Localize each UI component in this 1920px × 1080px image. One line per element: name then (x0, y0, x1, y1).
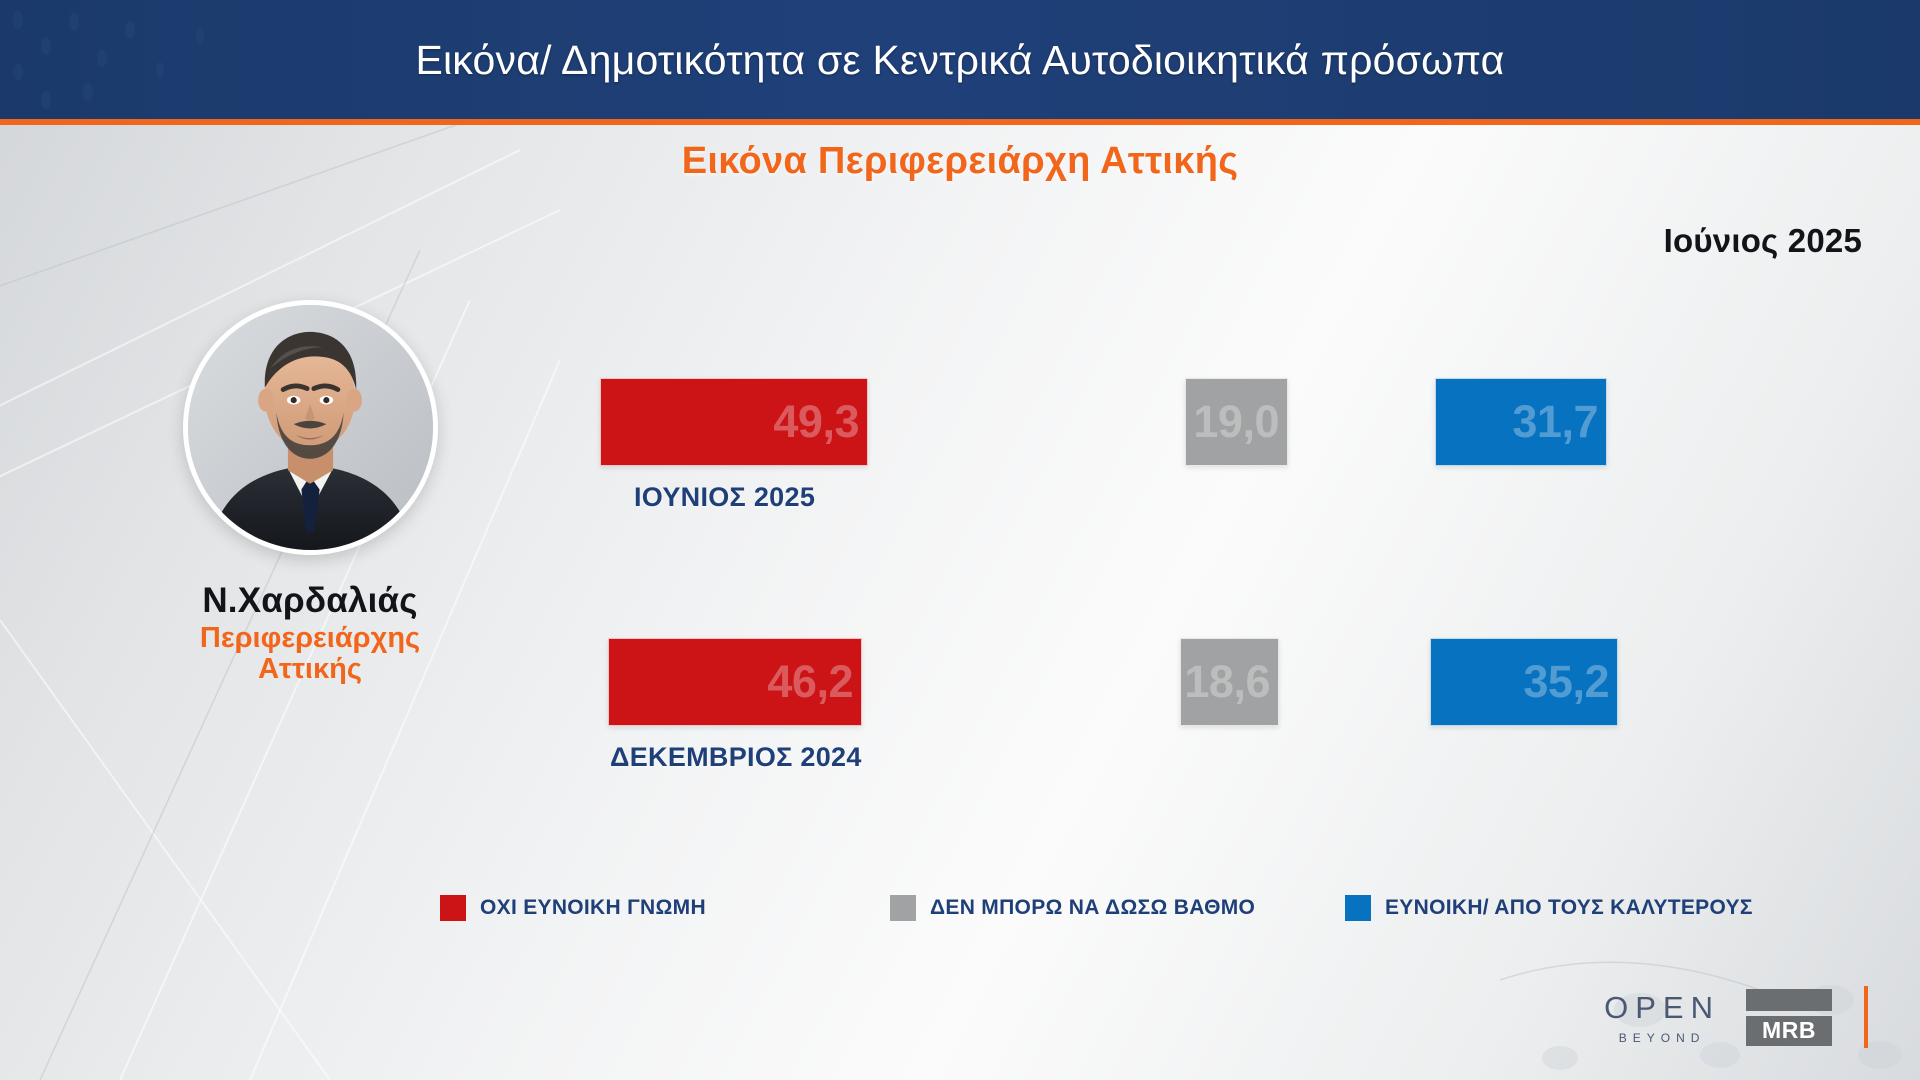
open-beyond-logo: OPEN BEYOND (1604, 990, 1720, 1045)
legend-label-unfavourable: ΟΧΙ ΕΥΝΟΙΚΗ ΓΝΩΜΗ (480, 896, 706, 920)
bar-nograde-2024: 18,6 (1180, 638, 1279, 726)
legend-swatch-red-icon (440, 895, 466, 921)
bar-value-nograde-2024: 18,6 (1184, 656, 1270, 708)
portrait-photo-icon (188, 305, 433, 550)
header-band: Εικόνα/ Δημοτικότητα σε Κεντρικά Αυτοδιο… (0, 0, 1920, 120)
person-role-line1: Περιφερειάρχης (120, 623, 500, 654)
bar-unfavourable-2025: 49,3 (600, 378, 868, 466)
chart-legend: ΟΧΙ ΕΥΝΟΙΚΗ ΓΝΩΜΗ ΔΕΝ ΜΠΟΡΩ ΝΑ ΔΩΣΩ ΒΑΘΜ… (440, 895, 1840, 935)
footer-accent-rule (1864, 986, 1868, 1048)
footer-logos: OPEN BEYOND MRB (1604, 986, 1868, 1048)
mrb-wordmark: MRB (1746, 1016, 1832, 1046)
beyond-wordmark: BEYOND (1619, 1031, 1706, 1045)
bar-favourable-2025: 31,7 (1435, 378, 1607, 466)
legend-label-nograde: ΔΕΝ ΜΠΟΡΩ ΝΑ ΔΩΣΩ ΒΑΘΜΟ (930, 896, 1255, 920)
bar-favourable-2024: 35,2 (1430, 638, 1618, 726)
legend-swatch-blue-icon (1345, 895, 1371, 921)
person-block: Ν.Χαρδαλιάς Περιφερειάρχης Αττικής (120, 300, 500, 684)
chart-subtitle: Εικόνα Περιφερειάρχη Αττικής (0, 140, 1920, 183)
bar-chart: 49,3 19,0 31,7 ΙΟΥΝΙΟΣ 2025 46,2 18,6 35… (560, 300, 1860, 830)
legend-item-nograde: ΔΕΝ ΜΠΟΡΩ ΝΑ ΔΩΣΩ ΒΑΘΜΟ (890, 895, 1255, 921)
person-name: Ν.Χαρδαλιάς (120, 581, 500, 621)
bar-group-label-december-2024: ΔΕΚΕΜΒΡΙΟΣ 2024 (610, 742, 862, 773)
header-accent-rule (0, 119, 1920, 125)
bar-value-unfavourable-2024: 46,2 (767, 656, 853, 708)
page-title: Εικόνα/ Δημοτικότητα σε Κεντρικά Αυτοδιο… (0, 0, 1920, 120)
mrb-logo-bar-icon (1746, 989, 1832, 1011)
legend-item-unfavourable: ΟΧΙ ΕΥΝΟΙΚΗ ΓΝΩΜΗ (440, 895, 706, 921)
bar-value-favourable-2025: 31,7 (1512, 396, 1598, 448)
legend-label-favourable: ΕΥΝΟΙΚΗ/ ΑΠΟ ΤΟΥΣ ΚΑΛΥΤΕΡΟΥΣ (1385, 896, 1753, 920)
legend-swatch-gray-icon (890, 895, 916, 921)
bar-value-nograde-2025: 19,0 (1193, 396, 1279, 448)
avatar (183, 300, 438, 555)
bar-value-unfavourable-2025: 49,3 (773, 396, 859, 448)
infographic-slide: Εικόνα/ Δημοτικότητα σε Κεντρικά Αυτοδιο… (0, 0, 1920, 1080)
bar-group-label-june-2025: ΙΟΥΝΙΟΣ 2025 (634, 482, 815, 513)
bar-value-favourable-2024: 35,2 (1523, 656, 1609, 708)
mrb-logo: MRB (1746, 989, 1832, 1046)
bar-nograde-2025: 19,0 (1185, 378, 1288, 466)
person-role: Περιφερειάρχης Αττικής (120, 623, 500, 684)
survey-date: Ιούνιος 2025 (1664, 222, 1862, 260)
legend-item-favourable: ΕΥΝΟΙΚΗ/ ΑΠΟ ΤΟΥΣ ΚΑΛΥΤΕΡΟΥΣ (1345, 895, 1753, 921)
bar-unfavourable-2024: 46,2 (608, 638, 862, 726)
person-role-line2: Αττικής (120, 654, 500, 685)
open-wordmark: OPEN (1604, 990, 1720, 1026)
